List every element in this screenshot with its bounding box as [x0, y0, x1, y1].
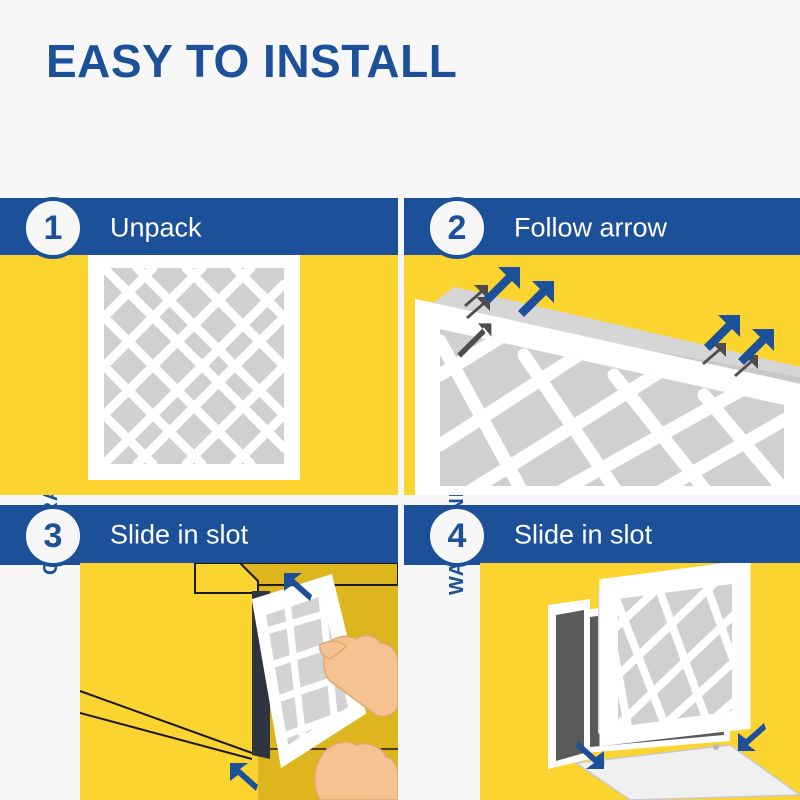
step-panel-3: 3 Slide in slot CENTRAL UNIT: [0, 495, 400, 800]
air-filter-tilted-graphic: [404, 255, 800, 495]
step-1-number-badge: 1: [22, 197, 84, 259]
air-filter-front-graphic: [0, 255, 398, 495]
filter-in-wall-unit: [598, 567, 744, 739]
page-title: EASY TO INSTALL: [46, 38, 457, 84]
step-1-number: 1: [44, 209, 63, 248]
step-2-number: 2: [448, 209, 467, 248]
step-3-title: Slide in slot: [110, 520, 248, 551]
step-4-number: 4: [448, 517, 467, 556]
step-4-number-badge: 4: [426, 505, 488, 567]
step-1-title: Unpack: [110, 213, 202, 244]
wall-unit-graphic: [480, 563, 800, 800]
step-2-title: Follow arrow: [514, 213, 667, 244]
step-3-illustration-area: [80, 563, 398, 800]
infographic-root: EASY TO INSTALL: [0, 0, 800, 800]
step-2-illustration-area: [404, 255, 800, 495]
step-4-title: Slide in slot: [514, 520, 652, 551]
step-panel-4: 4 Slide in slot WALL UNIT: [404, 495, 800, 800]
step-1-illustration-area: [0, 255, 398, 495]
central-unit-graphic: [80, 563, 398, 800]
step-4-illustration-area: [480, 563, 800, 800]
step-3-number-badge: 3: [22, 505, 84, 567]
step-panel-1: 1 Unpack: [0, 185, 400, 495]
step-2-number-badge: 2: [426, 197, 488, 259]
step-3-number: 3: [44, 517, 63, 556]
step-panel-2: 2 Follow arrow: [404, 185, 800, 495]
